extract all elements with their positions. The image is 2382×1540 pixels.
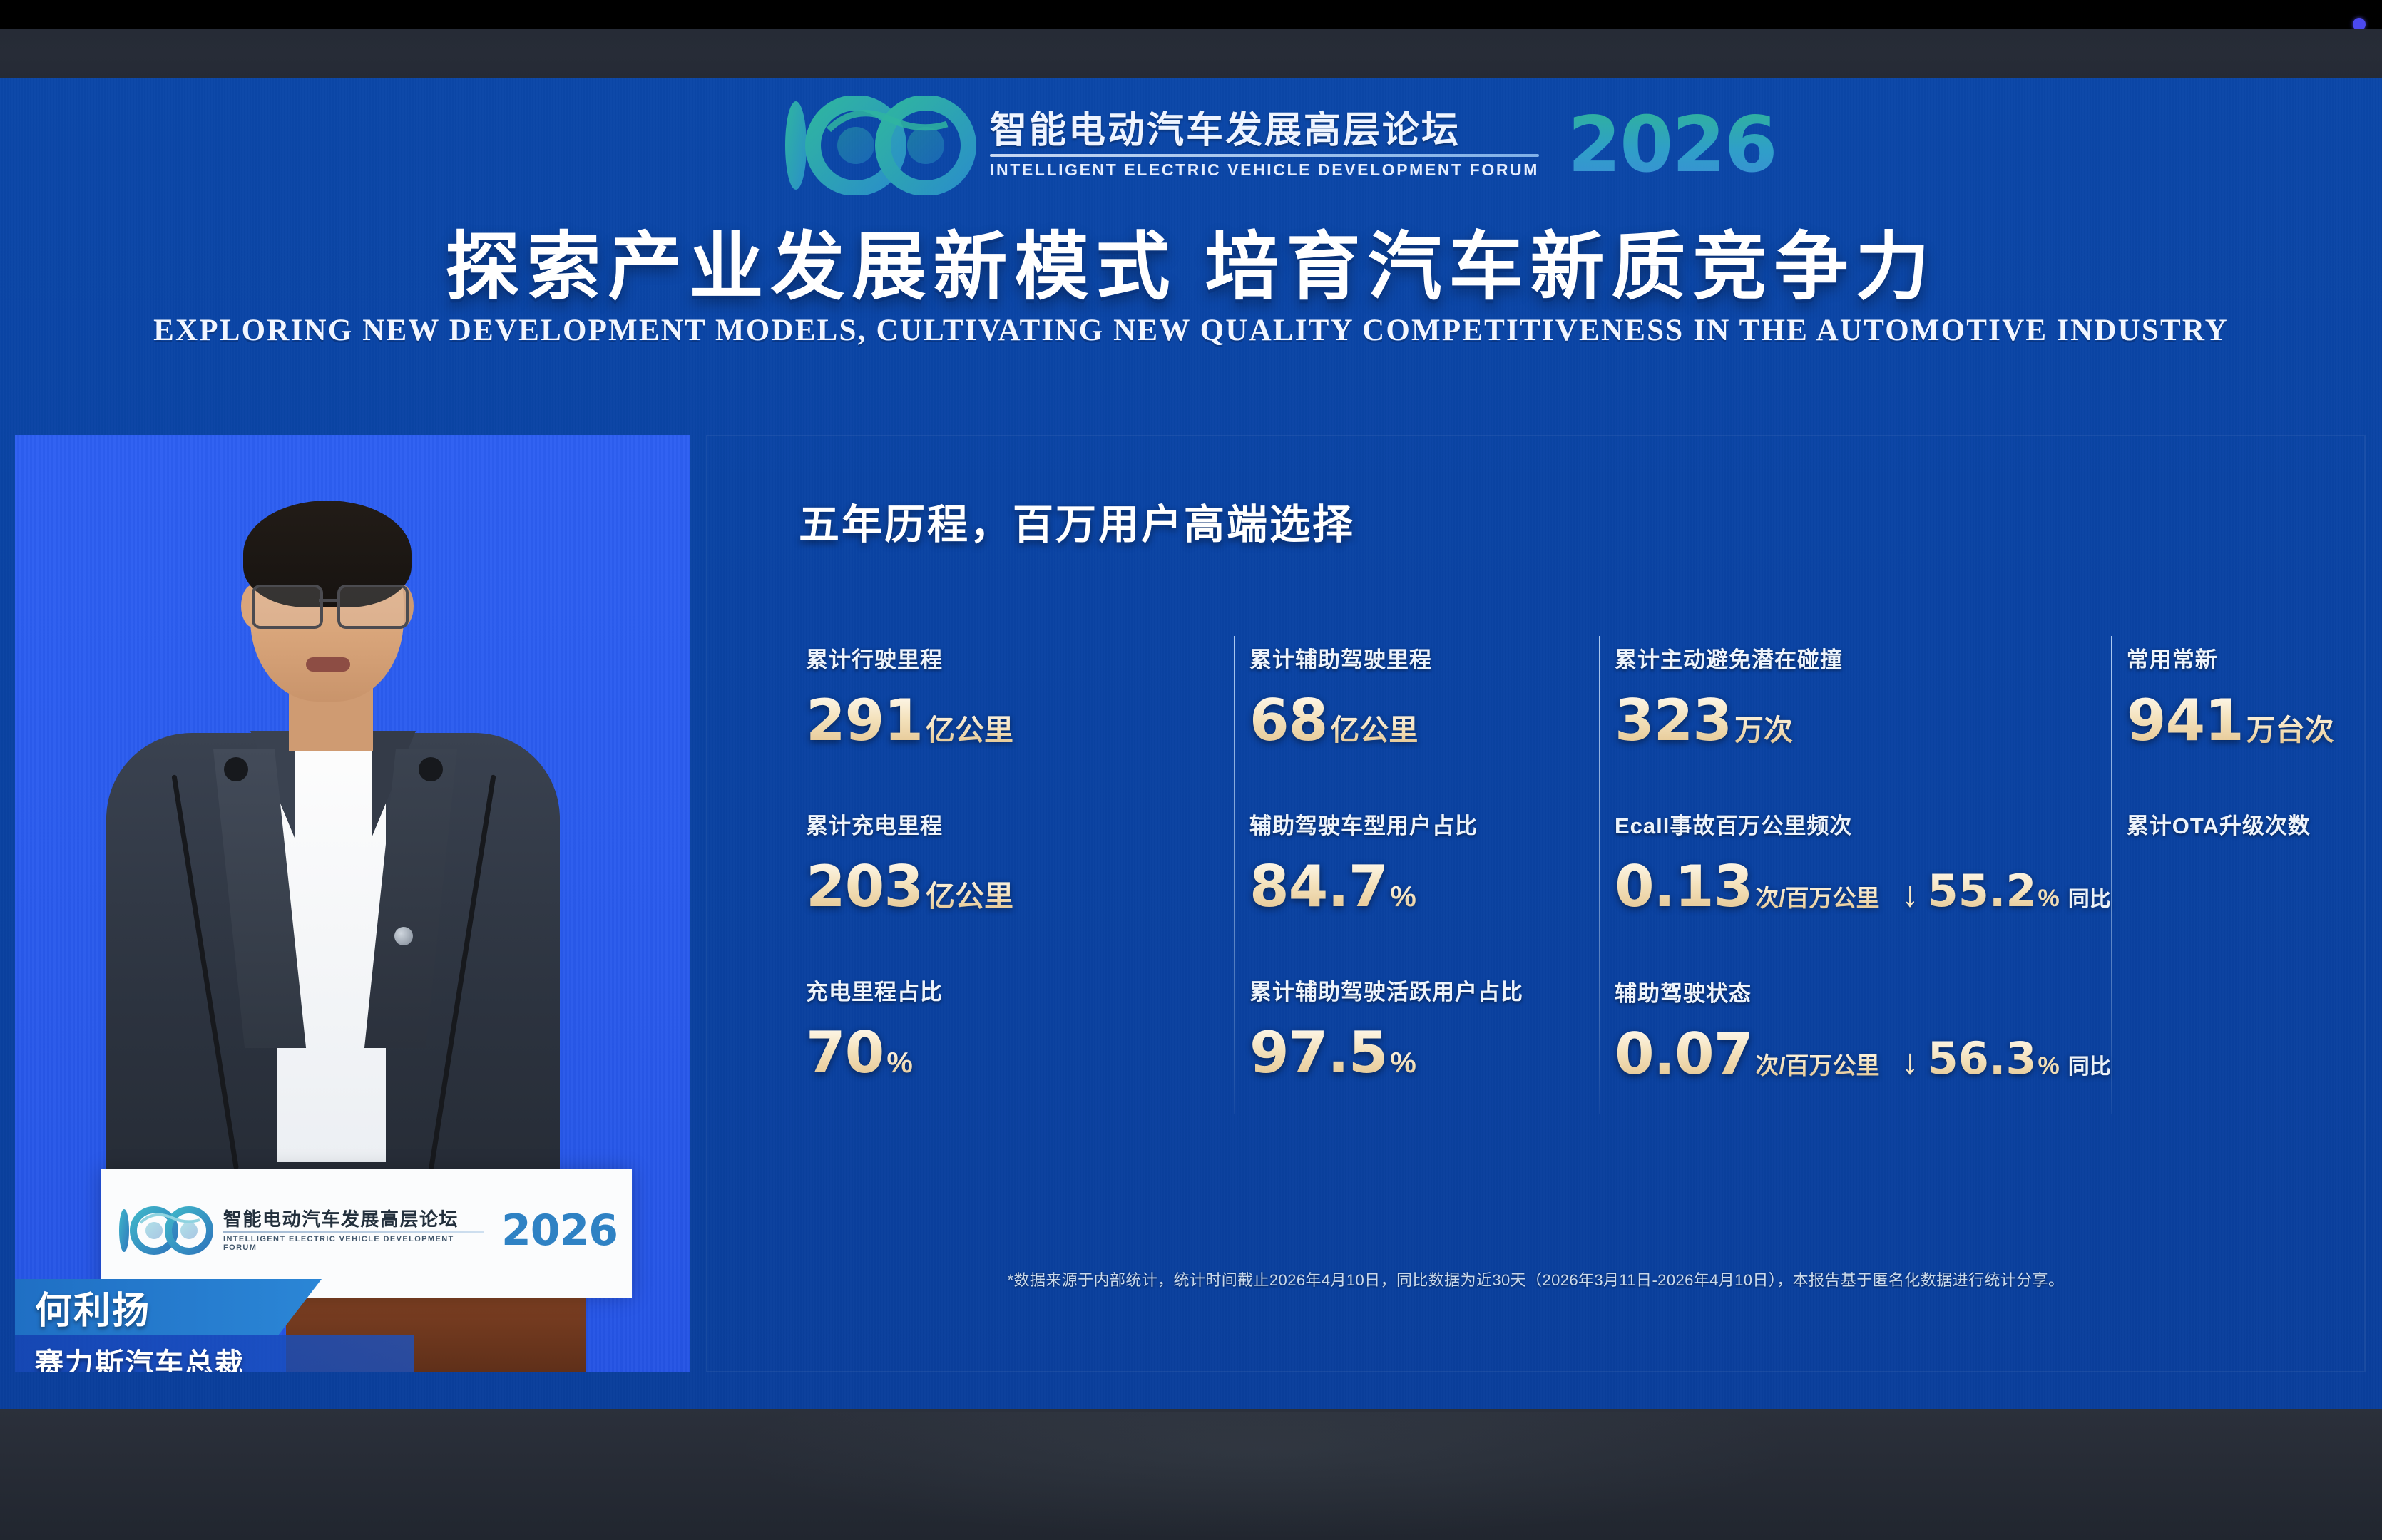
metric-item: 累计充电里程203亿公里 [806, 808, 1234, 915]
metric-number: 291 [806, 692, 923, 749]
metric-value-row: 0.07次/百万公里↓56.3%同比 [1615, 1026, 2111, 1084]
metric-unit: 亿公里 [926, 872, 1013, 915]
microphone-head-left [224, 757, 248, 781]
speaker-role: 赛力斯汽车总裁 [15, 1340, 245, 1372]
metric-value-row: 70% [806, 1025, 1234, 1082]
podium-logo-divider [223, 1231, 484, 1233]
column-divider [1234, 636, 1235, 1114]
metrics-column: 累计行驶里程291亿公里累计充电里程203亿公里充电里程占比70% [790, 642, 1234, 1143]
column-divider [1599, 636, 1600, 1114]
metric-unit: 次/百万公里 [1755, 1047, 1879, 1081]
metric-item: 累计主动避免潜在碰撞323万次 [1615, 642, 2111, 749]
forum-logo-cn: 智能电动汽车发展高层论坛 [990, 111, 1539, 150]
metric-unit: 亿公里 [926, 706, 1013, 749]
podium-logo-en: INTELLIGENT ELECTRIC VEHICLE DEVELOPMENT… [223, 1235, 484, 1252]
trend-down-arrow-icon: ↓ [1901, 873, 1919, 915]
metric-value-row: 323万次 [1615, 692, 2111, 749]
speaker-name: 何利扬 [15, 1280, 150, 1334]
metric-delta-note: 同比 [2068, 881, 2111, 913]
trend-down-arrow-icon: ↓ [1901, 1041, 1919, 1082]
100-infinity-logo-icon [777, 96, 977, 195]
forum-title-en: EXPLORING NEW DEVELOPMENT MODELS, CULTIV… [0, 313, 2382, 348]
metric-unit: % [1390, 1046, 1416, 1079]
metric-number: 0.07 [1615, 1026, 1752, 1083]
metric-label: 累计充电里程 [806, 808, 1234, 840]
metric-item: 常用常新941万台次 [2127, 642, 2366, 749]
metric-number: 97.5 [1249, 1025, 1387, 1082]
metric-item: 充电里程占比70% [806, 974, 1234, 1082]
metric-value-row: 203亿公里 [806, 858, 1234, 915]
column-divider [2111, 636, 2112, 1114]
forum-header: 智能电动汽车发展高层论坛 INTELLIGENT ELECTRIC VEHICL… [0, 78, 2382, 434]
metric-unit: 万次 [1734, 706, 1793, 749]
metric-item: 辅助驾驶车型用户占比84.7% [1249, 808, 1599, 915]
metric-item: 辅助驾驶状态0.07次/百万公里↓56.3%同比 [1615, 975, 2111, 1084]
metric-unit: % [1390, 880, 1416, 913]
metric-label: 累计辅助驾驶里程 [1249, 642, 1599, 674]
speaker-name-tag: 何利扬 [15, 1279, 322, 1335]
metric-number: 203 [806, 858, 923, 915]
speaker-mouth [306, 657, 350, 672]
forum-logo-text: 智能电动汽车发展高层论坛 INTELLIGENT ELECTRIC VEHICL… [990, 111, 1539, 180]
slide-title: 五年历程，百万用户高端选择 [799, 492, 1355, 550]
podium-logo-year: 2026 [501, 1209, 618, 1252]
metrics-column: 累计主动避免潜在碰撞323万次Ecall事故百万公里频次0.13次/百万公里↓5… [1599, 642, 2111, 1143]
metric-number: 68 [1249, 692, 1327, 749]
metric-item: 累计OTA升级次数 [2127, 808, 2366, 840]
metric-label: 累计行驶里程 [806, 642, 1234, 674]
metric-unit: % [886, 1046, 912, 1079]
metric-value-row: 68亿公里 [1249, 692, 1599, 749]
metric-label: 常用常新 [2127, 642, 2366, 674]
metric-label: 辅助驾驶状态 [1615, 975, 2111, 1007]
forum-logo-divider [990, 154, 1539, 157]
metrics-grid: 累计行驶里程291亿公里累计充电里程203亿公里充电里程占比70%累计辅助驾驶里… [790, 642, 2281, 1143]
podium-logo-cn: 智能电动汽车发展高层论坛 [223, 1209, 484, 1230]
speaker-glasses-icon [247, 585, 409, 625]
metric-value-row: 97.5% [1249, 1025, 1599, 1082]
forum-logo-lockup: 智能电动汽车发展高层论坛 INTELLIGENT ELECTRIC VEHICL… [777, 96, 1777, 195]
metric-value-row: 291亿公里 [806, 692, 1234, 749]
metric-delta-unit: % [2038, 885, 2060, 913]
podium-front-panel: 智能电动汽车发展高层论坛 INTELLIGENT ELECTRIC VEHICL… [101, 1169, 632, 1298]
metric-delta: 55.2 [1928, 865, 2037, 917]
metric-value-row: 0.13次/百万公里↓55.2%同比 [1615, 858, 2111, 917]
forum-logo-en: INTELLIGENT ELECTRIC VEHICLE DEVELOPMENT… [990, 160, 1539, 180]
metric-label: 累计辅助驾驶活跃用户占比 [1249, 974, 1599, 1006]
presentation-slide: 五年历程，百万用户高端选择 累计行驶里程291亿公里累计充电里程203亿公里充电… [706, 435, 2366, 1372]
forum-logo-year: 2026 [1568, 107, 1777, 184]
forum-title-cn: 探索产业发展新模式 培育汽车新质竞争力 [0, 206, 2382, 314]
speaker-role-tag: 赛力斯汽车总裁 [15, 1335, 414, 1372]
metric-unit: 万台次 [2246, 706, 2334, 749]
metric-number: 84.7 [1249, 858, 1387, 915]
podium-logo-lockup: 智能电动汽车发展高层论坛 INTELLIGENT ELECTRIC VEHICL… [115, 1202, 618, 1259]
speaker-video-panel: 智能电动汽车发展高层论坛 INTELLIGENT ELECTRIC VEHICL… [15, 435, 690, 1372]
metric-unit: 亿公里 [1330, 706, 1418, 749]
metric-delta-unit: % [2038, 1052, 2060, 1080]
metric-delta-note: 同比 [2068, 1049, 2111, 1080]
metric-delta: 56.3 [1928, 1032, 2037, 1084]
metric-value-row: 941万台次 [2127, 692, 2366, 749]
bottom-bar-glow [727, 1412, 1797, 1540]
metric-number: 941 [2127, 692, 2244, 749]
metric-label: 累计主动避免潜在碰撞 [1615, 642, 2111, 674]
metrics-column: 累计辅助驾驶里程68亿公里辅助驾驶车型用户占比84.7%累计辅助驾驶活跃用户占比… [1234, 642, 1599, 1143]
metric-number: 0.13 [1615, 858, 1752, 915]
metric-number: 323 [1615, 692, 1732, 749]
metric-value-row: 84.7% [1249, 858, 1599, 915]
top-black-bar [0, 0, 2382, 29]
metric-unit: 次/百万公里 [1755, 879, 1879, 913]
metric-item: 累计辅助驾驶里程68亿公里 [1249, 642, 1599, 749]
metric-label: 充电里程占比 [806, 974, 1234, 1006]
metric-number: 70 [806, 1025, 884, 1082]
metric-label: 辅助驾驶车型用户占比 [1249, 808, 1599, 840]
metric-label: Ecall事故百万公里频次 [1615, 808, 2111, 840]
metric-label: 累计OTA升级次数 [2127, 808, 2366, 840]
broadcast-stage: 智能电动汽车发展高层论坛 INTELLIGENT ELECTRIC VEHICL… [0, 0, 2382, 1540]
slide-footnote: *数据来源于内部统计，统计时间截止2026年4月10日，同比数据为近30天（20… [706, 1268, 2366, 1290]
metrics-column: 常用常新941万台次累计OTA升级次数 [2111, 642, 2366, 1143]
speaker-lapel-pin [394, 927, 413, 945]
podium-100-infinity-logo-icon [115, 1202, 215, 1259]
microphone-head-right [419, 757, 443, 781]
forum-stage-frame: 智能电动汽车发展高层论坛 INTELLIGENT ELECTRIC VEHICL… [0, 78, 2382, 1409]
metric-item: 累计辅助驾驶活跃用户占比97.5% [1249, 974, 1599, 1082]
metric-item: 累计行驶里程291亿公里 [806, 642, 1234, 749]
top-grey-bar [0, 29, 2382, 78]
metric-item: Ecall事故百万公里频次0.13次/百万公里↓55.2%同比 [1615, 808, 2111, 917]
